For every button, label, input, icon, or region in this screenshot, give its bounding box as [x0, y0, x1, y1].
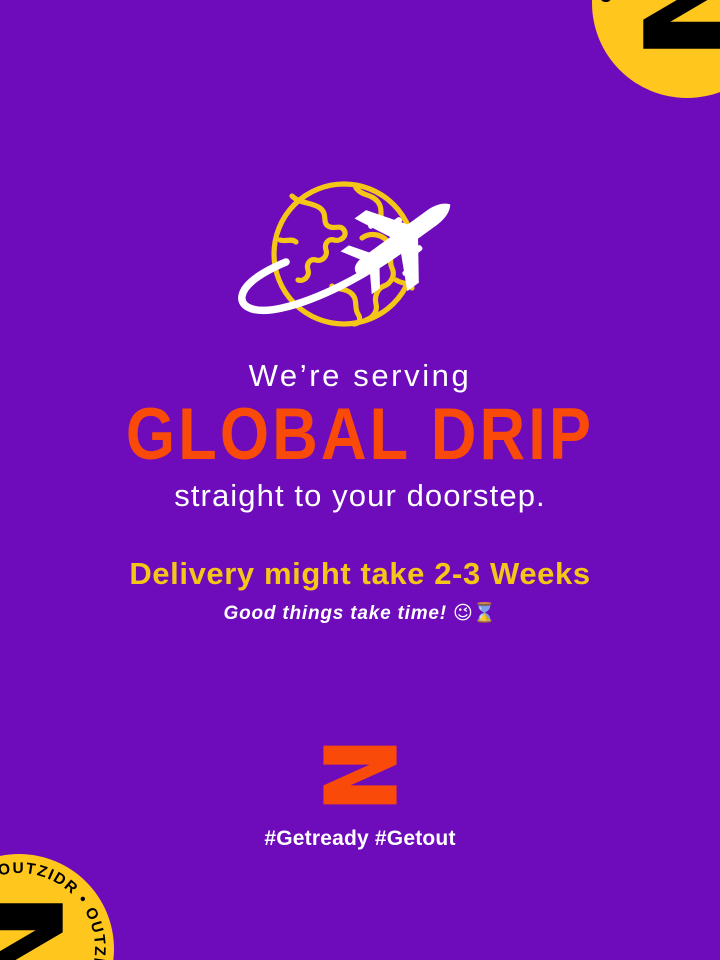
delivery-notice: Delivery might take 2-3 Weeks	[0, 558, 720, 591]
badge-top-right: OUTZIDR • OUTZIDR • OUTZIDR •	[592, 0, 720, 98]
hashtags: #Getready #Getout	[0, 827, 720, 851]
copy-block: We’re serving GLOBAL DRIP straight to yo…	[0, 360, 720, 625]
tagline: Good things take time! 😉⌛	[0, 603, 720, 625]
subhead-text: straight to your doorstep.	[0, 480, 720, 513]
outzidr-z-logo-icon	[320, 744, 400, 806]
footer-block: #Getready #Getout	[0, 744, 720, 851]
poster-canvas: OUTZIDR • OUTZIDR • OUTZIDR • OUTZIDR • …	[0, 0, 720, 960]
eyebrow-text: We’re serving	[0, 360, 720, 393]
page-title: GLOBAL DRIP	[0, 399, 720, 472]
outzidr-z-logo-icon	[635, 0, 720, 55]
tagline-emoji: 😉⌛	[453, 602, 496, 624]
tagline-text: Good things take time!	[223, 603, 446, 624]
outzidr-z-logo-icon	[0, 897, 71, 960]
badge-bottom-left: OUTZIDR • OUTZIDR • OUTZIDR • OUTZIDR	[0, 854, 114, 960]
globe-and-plane-illustration	[236, 176, 486, 338]
